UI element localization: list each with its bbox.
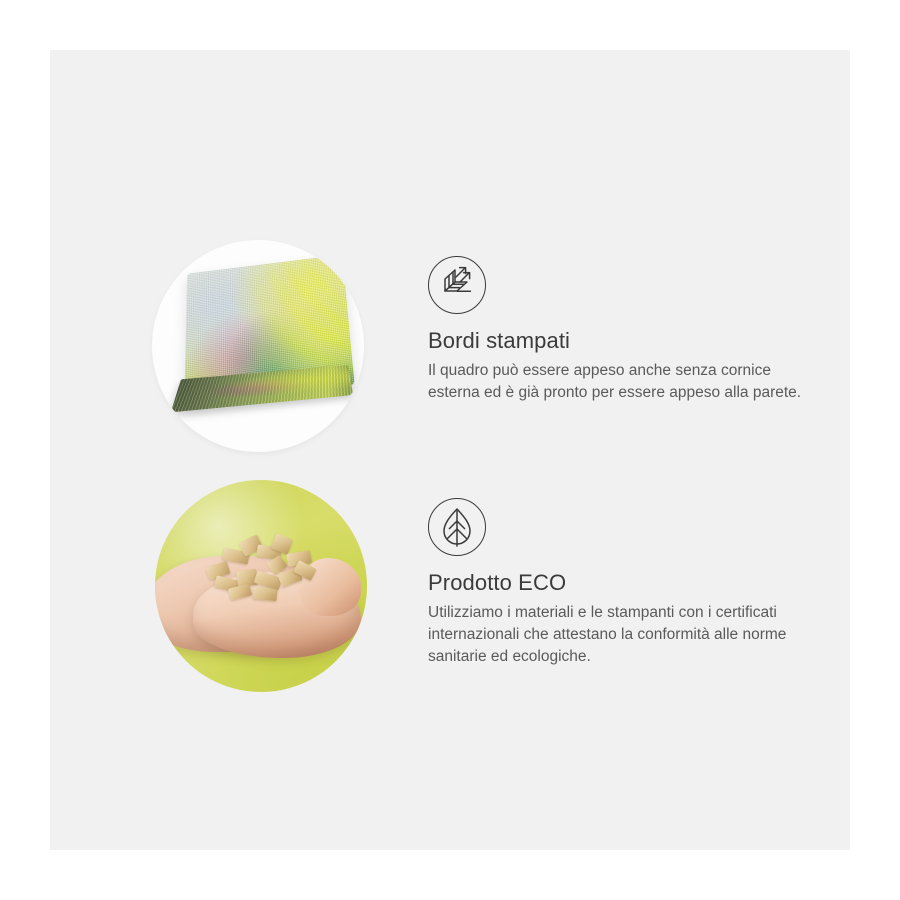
- feature-description: Il quadro può essere appeso anche senza …: [428, 360, 802, 404]
- feature-printed-edges: Bordi stampati Il quadro può essere appe…: [50, 180, 850, 470]
- content-panel: Bordi stampati Il quadro può essere appe…: [50, 50, 850, 850]
- printed-edges-icon: [428, 256, 486, 314]
- leaf-icon: [428, 498, 486, 556]
- canvas-corner-photo: [152, 240, 364, 452]
- feature-title: Bordi stampati: [428, 328, 802, 353]
- hands-illustration: [155, 538, 367, 668]
- printed-edges-text: Bordi stampati Il quadro può essere appe…: [428, 328, 802, 404]
- wood-chips-hands-photo: [155, 480, 367, 692]
- canvas-artwork: [176, 240, 364, 436]
- feature-description: Utilizziamo i materiali e le stampanti c…: [428, 602, 802, 668]
- product-info-page: Bordi stampati Il quadro può essere appe…: [0, 0, 900, 900]
- feature-eco-product: Prodotto ECO Utilizziamo i materiali e l…: [50, 460, 850, 750]
- wood-chips: [203, 534, 319, 606]
- feature-title: Prodotto ECO: [428, 570, 802, 595]
- eco-product-text: Prodotto ECO Utilizziamo i materiali e l…: [428, 570, 802, 668]
